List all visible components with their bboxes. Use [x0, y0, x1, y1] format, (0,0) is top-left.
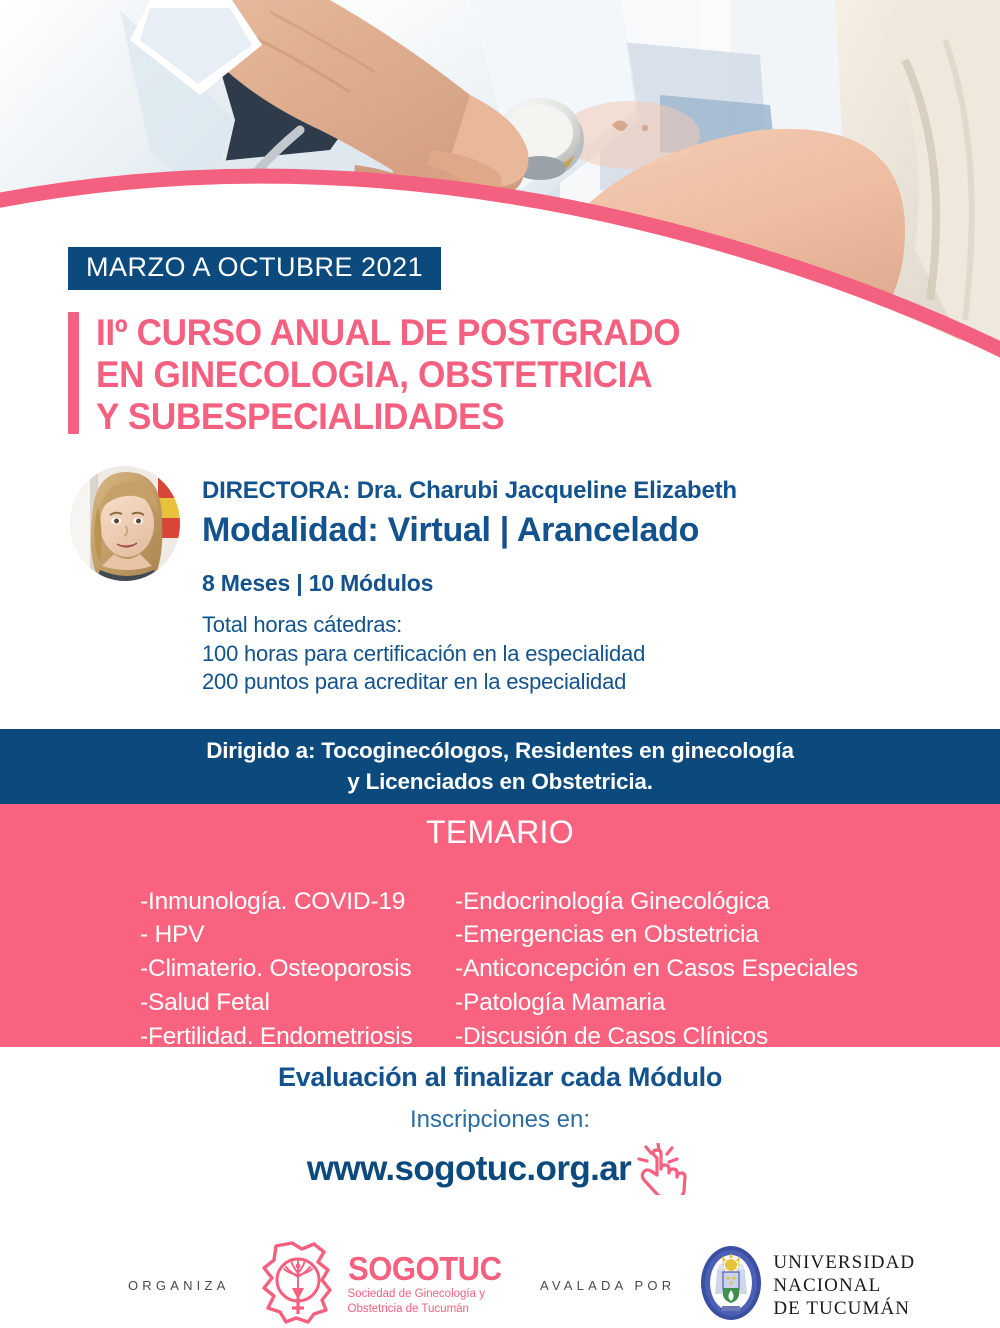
list-item: -Climaterio. Osteoporosis — [140, 952, 415, 986]
audience-text: Dirigido a: Tocoginecólogos, Residentes … — [206, 736, 794, 796]
list-item: -Patología Mamaria — [455, 986, 858, 1020]
list-item: -Emergencias en Obstetricia — [455, 918, 858, 952]
page-title: IIº CURSO ANUAL DE POSTGRADO EN GINECOLO… — [96, 312, 680, 437]
list-item: -Discusión de Casos Clínicos — [455, 1020, 858, 1054]
registration-url-row[interactable]: www.sogotuc.org.ar — [0, 1137, 1000, 1200]
temario-heading: TEMARIO — [0, 804, 1000, 848]
evaluation-text: Evaluación al finalizar cada Módulo — [0, 1064, 1000, 1091]
logos-row: ORGANIZA — [0, 1226, 1000, 1316]
sogotuc-subtitle: Sociedad de Ginecología y Obstetricia de… — [348, 1287, 511, 1317]
sogotuc-wordmark: SOGOTUC Sociedad de Ginecología y Obstet… — [348, 1254, 511, 1316]
click-hand-icon — [637, 1143, 693, 1200]
avatar — [70, 466, 180, 581]
title-block: IIº CURSO ANUAL DE POSTGRADO EN GINECOLO… — [68, 312, 711, 437]
director-block: DIRECTORA: Dra. Charubi Jacqueline Eliza… — [70, 462, 737, 697]
list-item: -Salud Fetal — [140, 986, 415, 1020]
director-portrait-illustration — [70, 466, 180, 581]
unt-name: UNIVERSIDAD NACIONAL DE TUCUMÁN — [773, 1251, 915, 1321]
hours-details: Total horas cátedras: 100 horas para cer… — [202, 611, 737, 697]
audience-band: Dirigido a: Tocoginecólogos, Residentes … — [0, 729, 1000, 804]
organiza-label: ORGANIZA — [128, 1278, 230, 1293]
registration-url[interactable]: www.sogotuc.org.ar — [307, 1151, 631, 1186]
modality-line: Modalidad: Virtual | Arancelado — [202, 510, 737, 550]
poster-root: MARZO A OCTUBRE 2021 IIº CURSO ANUAL DE … — [0, 0, 1000, 1328]
list-item: -Endocrinología Ginecológica — [455, 885, 858, 919]
avalada-logo-block: AVALADA POR — [540, 1244, 915, 1327]
date-badge: MARZO A OCTUBRE 2021 — [68, 247, 441, 290]
unt-crest-icon — [699, 1244, 763, 1327]
temario-columns: -Inmunología. COVID-19 - HPV -Climaterio… — [0, 860, 1000, 1146]
avalada-label: AVALADA POR — [540, 1278, 675, 1293]
inscriptions-label: Inscripciones en: — [0, 1108, 1000, 1132]
title-accent-bar — [68, 312, 79, 434]
sogotuc-map-icon — [252, 1240, 344, 1328]
duration-line: 8 Meses | 10 Módulos — [202, 572, 737, 595]
director-text: DIRECTORA: Dra. Charubi Jacqueline Eliza… — [202, 462, 737, 697]
list-item: -Inmunología. COVID-19 - HPV — [140, 885, 415, 953]
temario-band: TEMARIO -Inmunología. COVID-19 - HPV -Cl… — [0, 804, 1000, 1047]
organiza-logo-block: ORGANIZA — [128, 1240, 511, 1328]
director-name: DIRECTORA: Dra. Charubi Jacqueline Eliza… — [202, 478, 737, 504]
sogotuc-name: SOGOTUC — [348, 1254, 502, 1284]
list-item: -Fertilidad. Endometriosis — [140, 1020, 415, 1054]
list-item: -Anticoncepción en Casos Especiales — [455, 952, 858, 986]
